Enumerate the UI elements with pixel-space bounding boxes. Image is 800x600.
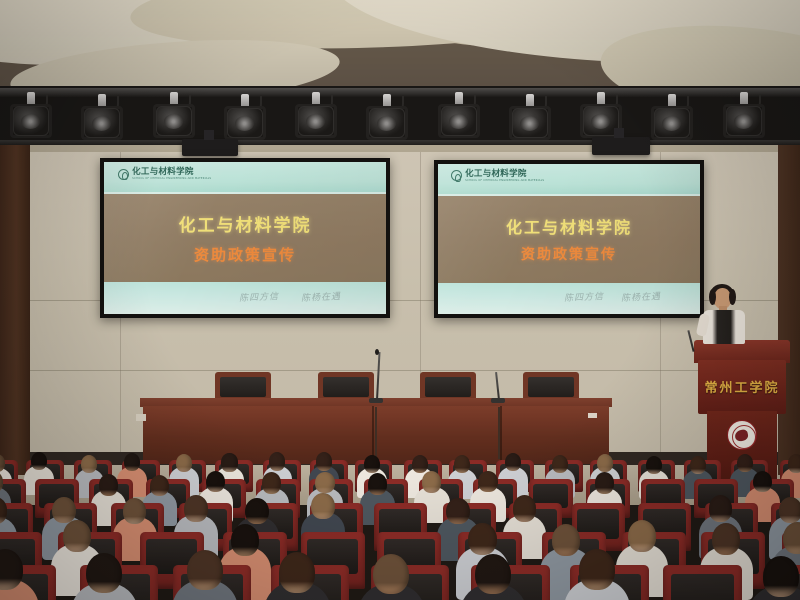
audience-member-head — [262, 472, 281, 494]
audience-member-head — [150, 475, 169, 497]
audience-member-head — [99, 474, 118, 496]
audience-member-head — [311, 493, 335, 520]
audience-member-head — [478, 471, 497, 493]
audience-member-head — [176, 454, 192, 472]
audience-member-head — [279, 552, 315, 593]
stage-light — [293, 96, 339, 142]
slide-title-line1: 化工与材料学院 — [506, 214, 632, 238]
table-microphone-head — [375, 349, 379, 355]
chair-cushion — [528, 377, 574, 397]
stage-light — [507, 98, 553, 144]
handwriting-right: 陈杨在遇 — [621, 289, 662, 304]
table-panel-seam — [500, 406, 502, 464]
audience-member-head — [206, 471, 225, 493]
audience-member-head — [187, 550, 223, 591]
slide-title-line2: 资助政策宣传 — [521, 244, 617, 264]
university-crest-icon — [727, 420, 757, 450]
speaker-torso — [703, 310, 745, 344]
stage-light — [151, 96, 197, 142]
table-label-tag — [588, 413, 597, 418]
slide-body: 化工与材料学院 资助政策宣传 — [104, 194, 386, 282]
audience-member-head — [709, 495, 733, 522]
audience-member-head — [52, 497, 76, 524]
light-lens — [164, 114, 183, 129]
light-lens — [734, 114, 753, 129]
right-screen-surface: 化工与材料学院 SCHOOL OF CHEMICAL ENGINEERING A… — [438, 164, 700, 314]
audience-member-head — [646, 456, 662, 474]
audience-member-head — [364, 455, 380, 473]
stage-light — [8, 96, 54, 142]
audience-member-head — [269, 452, 285, 470]
slide-title-line1: 化工与材料学院 — [179, 211, 312, 236]
audience-member-head — [373, 554, 409, 595]
speaker-hair-side — [709, 289, 716, 305]
audience-member-head — [368, 473, 387, 495]
audience-member-head — [505, 453, 521, 471]
audience-member-head — [468, 523, 497, 555]
handwriting-left: 陈四方信 — [239, 289, 280, 304]
light-lens — [520, 116, 539, 131]
school-logo-icon — [118, 169, 129, 180]
auditorium-scene: 化工与材料学院 SCHOOL OF CHEMICAL ENGINEERING A… — [0, 0, 800, 600]
school-logo-english: SCHOOL OF CHEMICAL ENGINEERING AND MATER… — [132, 178, 211, 181]
audience-member-head — [763, 556, 799, 597]
table-microphone-base — [491, 398, 505, 403]
table-microphone-base — [369, 398, 383, 403]
podium-institution-name: 常州工学院 — [704, 377, 779, 396]
audience-member-head — [123, 498, 147, 525]
audience-member-head — [31, 452, 47, 470]
audience-member-head — [552, 524, 581, 556]
chair-cushion — [220, 377, 266, 397]
wall-column-left — [0, 145, 30, 475]
audience-member-head — [712, 523, 741, 555]
left-projection-screen[interactable]: 化工与材料学院 SCHOOL OF CHEMICAL ENGINEERING A… — [100, 158, 390, 318]
wall-socket — [136, 414, 146, 421]
audience-member-head — [86, 553, 122, 594]
audience-member-head — [595, 472, 614, 494]
podium-front-panel: 常州工学院 — [698, 360, 786, 414]
handwriting-left: 陈四方信 — [563, 289, 604, 304]
handwriting-right: 陈杨在遇 — [301, 289, 342, 304]
school-logo-icon — [451, 170, 462, 181]
light-lens — [449, 114, 468, 129]
slide-footer-band: 陈四方信 陈杨在遇 — [104, 282, 386, 314]
speaker-presenter — [696, 284, 750, 346]
audience-member-head — [124, 453, 140, 471]
audience-member-head — [737, 454, 753, 472]
audience-member-head — [231, 524, 260, 556]
audience-member-head — [779, 497, 800, 524]
audience-member-head — [63, 520, 92, 552]
wall-top-trim — [0, 145, 800, 152]
light-lens — [235, 116, 254, 131]
audience-member-head — [446, 498, 470, 525]
school-logo: 化工与材料学院 SCHOOL OF CHEMICAL ENGINEERING A… — [451, 170, 544, 183]
stage-light — [436, 96, 482, 142]
audience-member-head — [245, 498, 269, 525]
projector-mount-right — [614, 128, 624, 138]
slide-header-band: 化工与材料学院 SCHOOL OF CHEMICAL ENGINEERING A… — [438, 164, 700, 196]
school-logo-english: SCHOOL OF CHEMICAL ENGINEERING AND MATER… — [465, 180, 544, 183]
light-lens — [306, 114, 325, 129]
speaker-hair-side — [729, 289, 736, 305]
audience-member-head — [753, 471, 772, 493]
left-screen-surface: 化工与材料学院 SCHOOL OF CHEMICAL ENGINEERING A… — [104, 162, 386, 314]
chair-cushion — [323, 377, 369, 397]
audience-member-head — [628, 520, 657, 552]
audience-member-head — [422, 471, 441, 493]
audience-member-head — [412, 455, 428, 473]
seat-cushion — [671, 574, 734, 600]
stage-light — [721, 96, 767, 142]
projector-left — [182, 139, 238, 156]
slide-header-band: 化工与材料学院 SCHOOL OF CHEMICAL ENGINEERING A… — [104, 162, 386, 194]
projector-mount-left — [204, 130, 214, 140]
audience-member-head — [690, 456, 706, 474]
school-logo-chinese: 化工与材料学院 — [465, 170, 544, 179]
stage-light — [364, 98, 410, 144]
stage-light — [649, 98, 695, 144]
audience-member-head — [579, 549, 615, 590]
slide-body: 化工与材料学院 资助政策宣传 — [438, 196, 700, 283]
stage-light — [79, 98, 125, 144]
audience-member-head — [81, 455, 97, 473]
audience-member-head — [783, 522, 800, 554]
audience-member-head — [475, 554, 511, 595]
audience-member-head — [316, 452, 332, 470]
chair-cushion — [425, 377, 471, 397]
microphone-cable — [375, 407, 377, 463]
right-projection-screen[interactable]: 化工与材料学院 SCHOOL OF CHEMICAL ENGINEERING A… — [434, 160, 704, 318]
audience-member-head — [221, 453, 237, 471]
audience-member-head — [184, 495, 208, 522]
microphone-cable — [498, 407, 500, 459]
audience-member-head — [513, 495, 537, 522]
stage-light — [222, 98, 268, 144]
light-lens — [21, 114, 40, 129]
audience-member-head — [597, 454, 613, 472]
audience-seat — [663, 565, 741, 600]
projector-right — [592, 137, 650, 155]
school-logo-chinese: 化工与材料学院 — [132, 168, 211, 177]
audience-member-head — [315, 472, 334, 494]
crest-core — [734, 428, 749, 441]
slide-title-line2: 资助政策宣传 — [194, 244, 296, 265]
audience-member-head — [552, 455, 568, 473]
audience-member-head — [788, 454, 800, 472]
school-logo: 化工与材料学院 SCHOOL OF CHEMICAL ENGINEERING A… — [118, 168, 211, 181]
slide-footer-band: 陈四方信 陈杨在遇 — [438, 283, 700, 315]
